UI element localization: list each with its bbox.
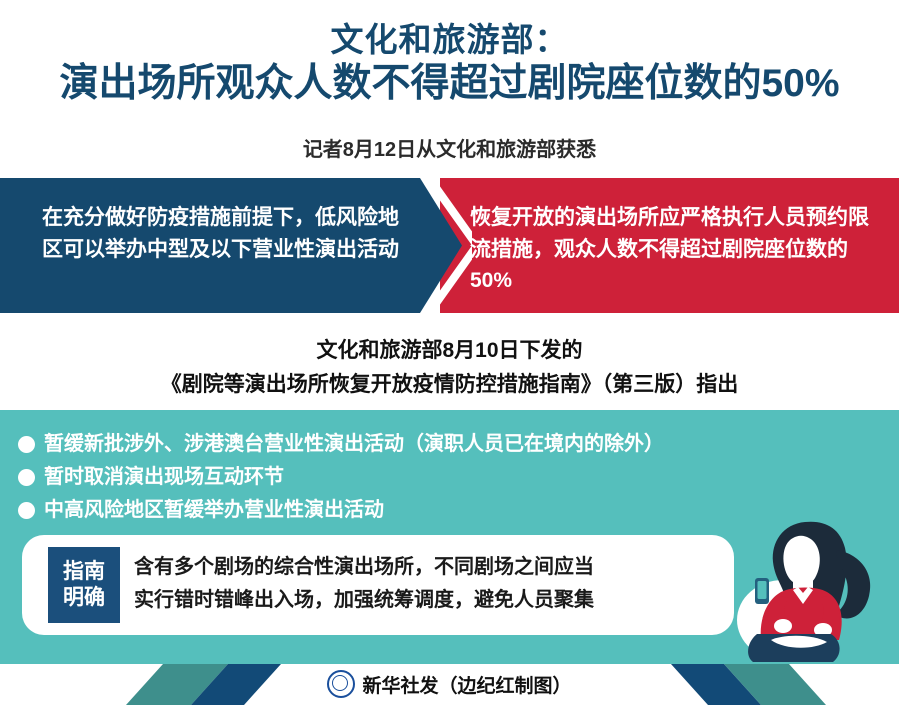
seated-woman-with-phone-illustration <box>709 514 899 664</box>
highlight-banner: 在充分做好防疫措施前提下，低风险地区可以举办中型及以下营业性演出活动 恢复开放的… <box>0 178 899 313</box>
source-note: 文化和旅游部8月10日下发的 《剧院等演出场所恢复开放疫情防控措施指南》（第三版… <box>0 322 899 410</box>
banner-right-text: 恢复开放的演出场所应严格执行人员预约限流措施，观众人数不得超过剧院座位数的50% <box>470 202 870 297</box>
infographic-root: 文化和旅游部： 演出场所观众人数不得超过剧院座位数的50% 记者8月12日从文化… <box>0 0 899 705</box>
guideline-badge: 指南 明确 <box>48 547 120 623</box>
bullet-text: 暂缓新批涉外、涉港澳台营业性演出活动（演职人员已在境内的除外） <box>44 430 664 459</box>
guideline-callout-line1: 含有多个剧场的综合性演出场所，不同剧场之间应当 <box>134 551 724 584</box>
page-title-line1: 文化和旅游部： <box>0 22 899 58</box>
bullet-dot-icon <box>18 469 35 486</box>
measures-panel: 暂缓新批涉外、涉港澳台营业性演出活动（演职人员已在境内的除外） 暂时取消演出现场… <box>0 410 899 664</box>
guideline-badge-line1: 指南 <box>63 559 105 585</box>
guideline-callout: 指南 明确 含有多个剧场的综合性演出场所，不同剧场之间应当 实行错时错峰出入场，… <box>22 535 734 635</box>
banner-left-text: 在充分做好防疫措施前提下，低风险地区可以举办中型及以下营业性演出活动 <box>42 202 402 265</box>
page-subtitle: 记者8月12日从文化和旅游部获悉 <box>0 133 899 162</box>
source-note-line1: 文化和旅游部8月10日下发的 <box>0 334 899 364</box>
guideline-callout-text: 含有多个剧场的综合性演出场所，不同剧场之间应当 实行错时错峰出入场，加强统筹调度… <box>134 551 724 617</box>
source-note-line2: 《剧院等演出场所恢复开放疫情防控措施指南》（第三版）指出 <box>0 368 899 398</box>
guideline-callout-line2: 实行错时错峰出入场，加强统筹调度，避免人员聚集 <box>134 584 724 617</box>
bullet-text: 暂时取消演出现场互动环节 <box>44 463 284 492</box>
guideline-badge-line2: 明确 <box>63 585 105 611</box>
xinhua-logo-icon <box>327 670 355 698</box>
bullet-dot-icon <box>18 436 35 453</box>
page-title-line2: 演出场所观众人数不得超过剧院座位数的50% <box>0 63 899 106</box>
footer-credit: 新华社发（边纪红制图） <box>0 670 899 698</box>
list-item: 暂时取消演出现场互动环节 <box>18 463 888 492</box>
header: 文化和旅游部： 演出场所观众人数不得超过剧院座位数的50% 记者8月12日从文化… <box>0 0 899 175</box>
footer-credit-text: 新华社发（边纪红制图） <box>362 671 571 698</box>
footer: 新华社发（边纪红制图） <box>0 664 899 705</box>
bullet-dot-icon <box>18 502 35 519</box>
bullet-text: 中高风险地区暂缓举办营业性演出活动 <box>44 496 384 525</box>
list-item: 暂缓新批涉外、涉港澳台营业性演出活动（演职人员已在境内的除外） <box>18 430 888 459</box>
